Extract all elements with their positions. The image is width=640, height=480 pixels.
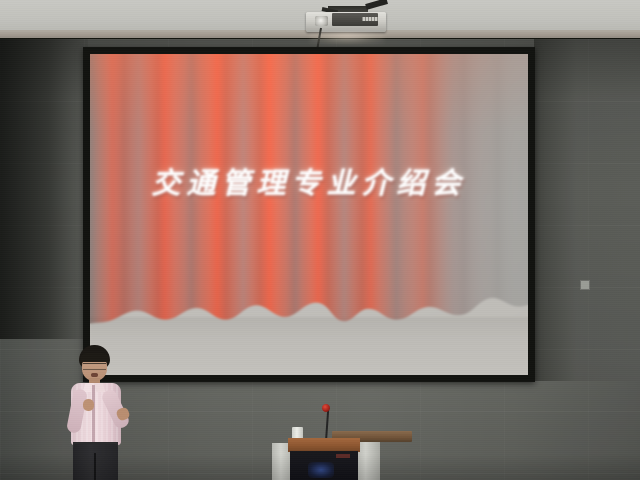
wall-outlet-plate <box>580 280 590 290</box>
lectern-emblem <box>308 462 334 478</box>
presenter-hand-left <box>83 399 94 411</box>
lecture-hall-scene: 交通管理专业介绍会 <box>0 0 640 480</box>
projector-lens-icon <box>315 16 328 26</box>
presenter-hair-fringe <box>80 353 109 362</box>
projected-slide: 交通管理专业介绍会 <box>90 54 528 375</box>
ceiling-projector <box>306 6 386 32</box>
wall-right-shadow <box>534 39 640 381</box>
presenter <box>60 345 156 480</box>
presenter-shirt-placket <box>92 385 95 443</box>
lectern-label-strip <box>336 454 350 458</box>
slide-title: 交通管理专业介绍会 <box>90 160 528 202</box>
projector-vent-icon <box>362 17 378 21</box>
lectern <box>270 400 412 480</box>
microphone-stalk <box>325 409 329 441</box>
projector-light-glow <box>310 33 384 45</box>
glasses-icon <box>83 363 106 370</box>
presenter-pants-seam <box>94 453 96 480</box>
wall-left-shadow <box>0 39 88 339</box>
projection-screen-frame: 交通管理专业介绍会 <box>83 47 535 382</box>
presenter-mouth <box>91 373 98 377</box>
microphone-icon <box>322 404 330 412</box>
lectern-wood-top <box>288 438 360 452</box>
